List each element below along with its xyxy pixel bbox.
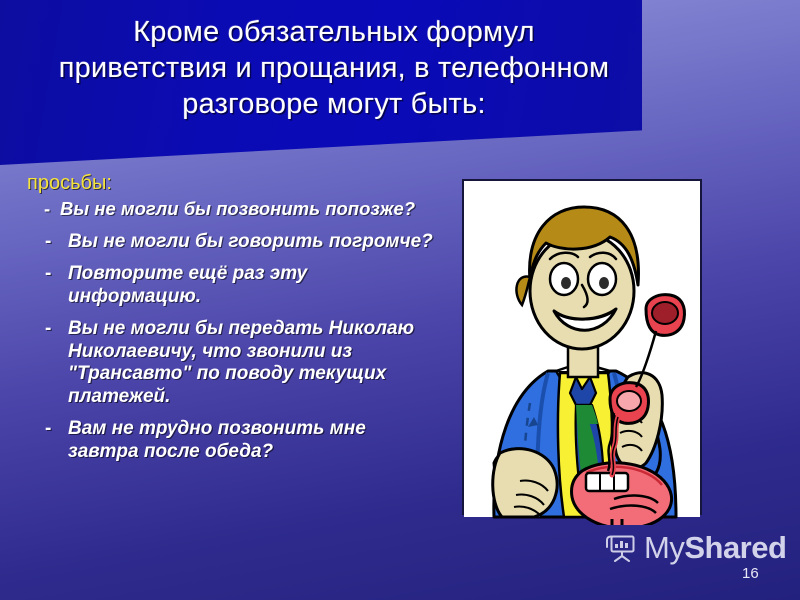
list-item-text: Вы не могли бы говорить погромче?: [68, 231, 433, 252]
list-item: - Вы не могли бы говорить погромче?: [0, 231, 452, 254]
myshared-watermark: MyShared: [604, 532, 786, 563]
bullet-dash-marker: -: [45, 418, 51, 441]
list-item-text: Вы не могли бы позвонить попозже?: [60, 198, 415, 219]
list-item: - Повторите ещё раз эту информацию.: [0, 263, 452, 308]
clipart-frame: [462, 179, 702, 515]
page-number: 16: [742, 566, 759, 581]
wordmark-my: My: [644, 530, 684, 565]
list-item-text: Повторите ещё раз эту информацию.: [68, 263, 307, 307]
list-item-text: Вам не трудно позвонить мне завтра после…: [68, 418, 366, 462]
list-item: - Вам не трудно позвонить мне завтра пос…: [0, 418, 452, 463]
businessman-on-phone-image: [464, 181, 700, 525]
slide-canvas: Кроме обязательных формул приветствия и …: [0, 0, 800, 600]
list-item: - Вы не могли бы передать Николаю Никола…: [0, 318, 452, 408]
bullet-dash-marker: -: [45, 318, 51, 341]
bullet-dash-marker: -: [45, 231, 51, 254]
wordmark-shared: Shared: [684, 530, 786, 565]
bullet-dash-marker: -: [45, 263, 51, 286]
bullet-dash-marker: -: [44, 198, 50, 221]
page-title: Кроме обязательных формул приветствия и …: [34, 14, 634, 122]
bullet-list: - Вы не могли бы позвонить попозже? - Вы…: [0, 198, 452, 473]
subheading-requests: просьбы:: [27, 172, 112, 194]
list-item-text: Вы не могли бы передать Николаю Николаев…: [68, 318, 414, 407]
list-item: - Вы не могли бы позвонить попозже?: [0, 198, 452, 221]
easel-chart-icon: [604, 533, 638, 563]
myshared-wordmark: MyShared: [644, 532, 786, 563]
